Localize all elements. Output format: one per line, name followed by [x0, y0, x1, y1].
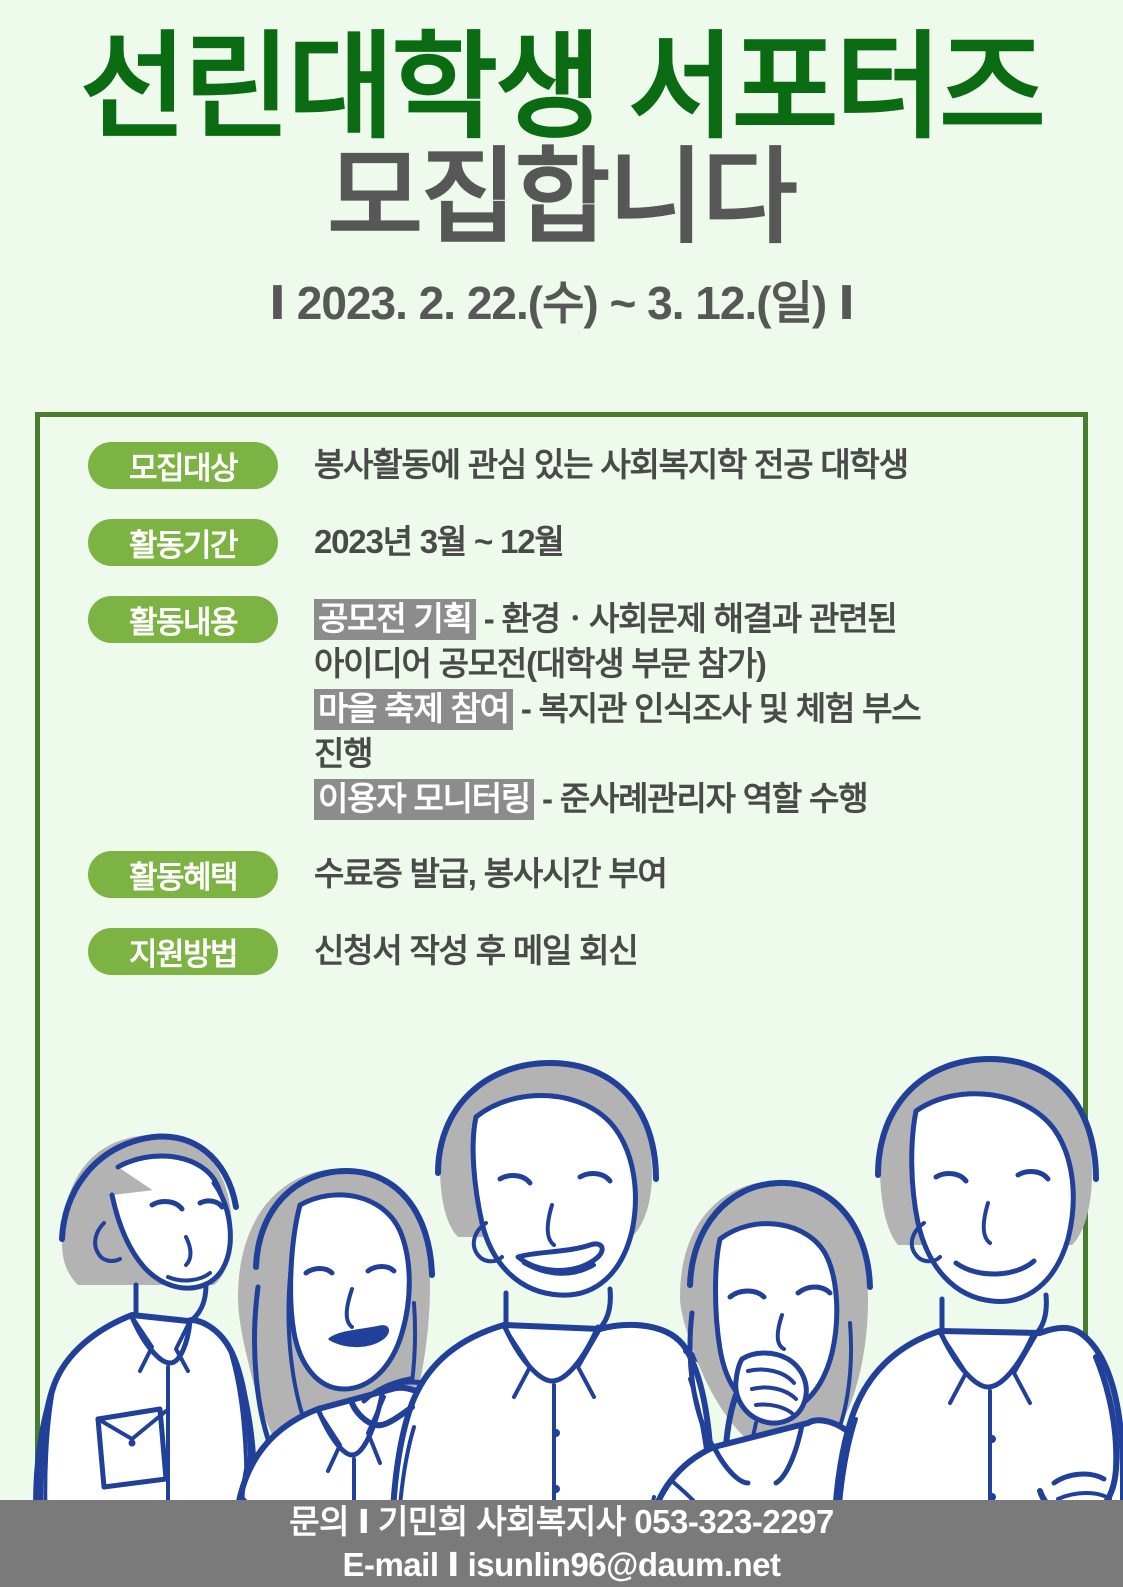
page-title-line2: 모집합니다	[0, 143, 1123, 253]
content-highlight-festival: 마을 축제 참여	[314, 689, 513, 730]
info-row-content: 활동내용 공모전 기획 - 환경ㆍ사회문제 해결과 관련된 아이디어 공모전(대…	[88, 594, 1048, 821]
content-line-2: 아이디어 공모전(대학생 부문 참가)	[314, 642, 1048, 687]
badge-recruitment-target: 모집대상	[88, 442, 278, 489]
info-text-benefit: 수료증 발급, 봉사시간 부여	[314, 849, 1048, 897]
badge-activity-content: 활동내용	[88, 596, 278, 643]
info-text-content: 공모전 기획 - 환경ㆍ사회문제 해결과 관련된 아이디어 공모전(대학생 부문…	[314, 594, 1048, 821]
content-line-1: 공모전 기획 - 환경ㆍ사회문제 해결과 관련된	[314, 597, 1048, 642]
content-rest-5: - 준사례관리자 역할 수행	[534, 780, 867, 817]
poster-footer: 문의 Ⅰ 기민희 사회복지사 053-323-2297 E-mail Ⅰ isu…	[0, 1500, 1123, 1587]
content-rest-3: - 복지관 인식조사 및 체험 부스	[513, 690, 921, 727]
poster-root: 선린대학생 서포터즈 모집합니다 Ⅰ 2023. 2. 22.(수) ~ 3. …	[0, 0, 1123, 1587]
content-line-4: 진행	[314, 732, 1048, 777]
content-highlight-monitoring: 이용자 모니터링	[314, 779, 534, 820]
info-text-target: 봉사활동에 관심 있는 사회복지학 전공 대학생	[314, 440, 1048, 488]
page-title-line1: 선린대학생 서포터즈	[0, 26, 1123, 149]
info-row-period: 활동기간 2023년 3월 ~ 12월	[88, 517, 1048, 566]
info-list: 모집대상 봉사활동에 관심 있는 사회복지학 전공 대학생 활동기간 2023년…	[88, 440, 1048, 1003]
info-row-benefit: 활동혜택 수료증 발급, 봉사시간 부여	[88, 849, 1048, 898]
content-highlight-contest: 공모전 기획	[314, 599, 476, 640]
content-line-3: 마을 축제 참여 - 복지관 인식조사 및 체험 부스	[314, 687, 1048, 732]
info-row-target: 모집대상 봉사활동에 관심 있는 사회복지학 전공 대학생	[88, 440, 1048, 489]
recruitment-date-range: Ⅰ 2023. 2. 22.(수) ~ 3. 12.(일) Ⅰ	[0, 267, 1123, 333]
info-text-apply: 신청서 작성 후 메일 회신	[314, 926, 1048, 974]
poster-header: 선린대학생 서포터즈 모집합니다 Ⅰ 2023. 2. 22.(수) ~ 3. …	[0, 0, 1123, 333]
badge-activity-period: 활동기간	[88, 519, 278, 566]
content-rest-1: - 환경ㆍ사회문제 해결과 관련된	[476, 600, 897, 637]
footer-contact: 문의 Ⅰ 기민희 사회복지사 053-323-2297	[289, 1501, 834, 1543]
footer-email: E-mail Ⅰ isunlin96@daum.net	[342, 1544, 780, 1586]
badge-activity-benefit: 활동혜택	[88, 851, 278, 898]
info-text-period: 2023년 3월 ~ 12월	[314, 517, 1048, 565]
badge-apply-method: 지원방법	[88, 928, 278, 975]
content-line-5: 이용자 모니터링 - 준사례관리자 역할 수행	[314, 777, 1048, 822]
info-row-apply: 지원방법 신청서 작성 후 메일 회신	[88, 926, 1048, 975]
